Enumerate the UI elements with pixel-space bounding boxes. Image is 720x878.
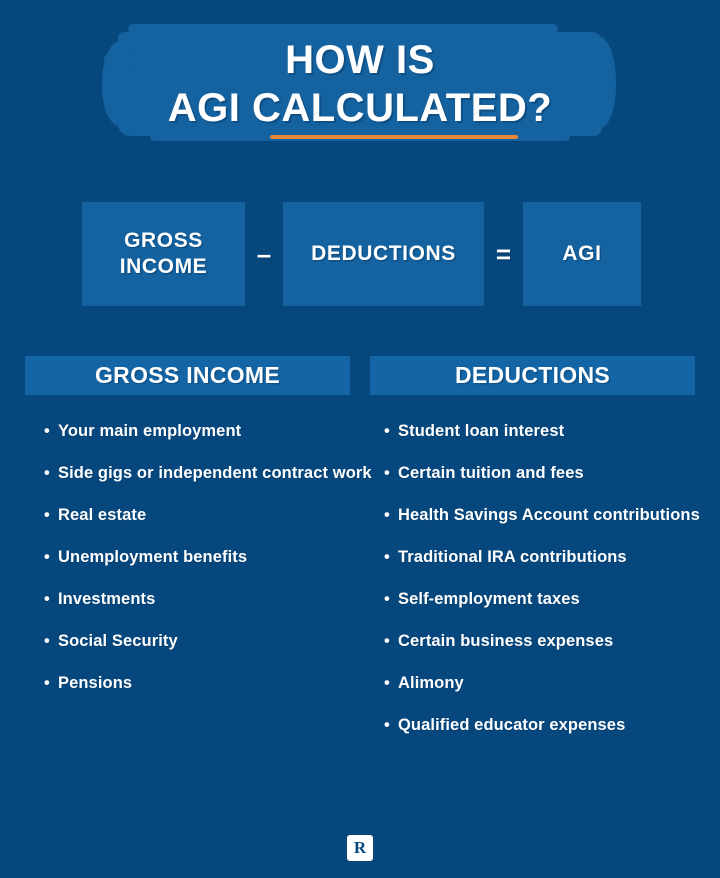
formula-gross-income-line-2: INCOME xyxy=(120,255,208,278)
bullet-icon: • xyxy=(44,452,58,494)
bullet-icon: • xyxy=(44,536,58,578)
formula-minus-operator: – xyxy=(245,202,283,306)
list-item: • Qualified educator expenses xyxy=(384,704,714,746)
title-block: HOW IS AGI CALCULATED? xyxy=(0,0,720,175)
page-title: HOW IS AGI CALCULATED? xyxy=(0,36,720,132)
formula-row: GROSS INCOME – DEDUCTIONS = AGI xyxy=(0,202,720,306)
list-item: • Health Savings Account contributions xyxy=(384,494,714,536)
list-item-label: Social Security xyxy=(58,620,374,662)
brush-streak-top xyxy=(128,24,558,34)
list-item: • Pensions xyxy=(44,662,374,704)
formula-equals-operator: = xyxy=(484,202,523,306)
page-title-line-1: HOW IS xyxy=(0,36,720,84)
bullet-icon: • xyxy=(384,536,398,578)
list-item: • Alimony xyxy=(384,662,714,704)
list-item: • Side gigs or independent contract work xyxy=(44,452,374,494)
list-item-label: Unemployment benefits xyxy=(58,536,374,578)
bullet-icon: • xyxy=(44,494,58,536)
bullet-icon: • xyxy=(384,452,398,494)
list-item-label: Self-employment taxes xyxy=(398,578,714,620)
list-item-label: Traditional IRA contributions xyxy=(398,536,714,578)
title-accent-underline xyxy=(270,135,518,139)
bullet-icon: • xyxy=(384,620,398,662)
formula-gross-income-line-1: GROSS xyxy=(124,229,203,252)
list-item: • Student loan interest xyxy=(384,410,714,452)
list-item-label: Side gigs or independent contract work xyxy=(58,452,374,494)
list-item: • Social Security xyxy=(44,620,374,662)
list-item: • Real estate xyxy=(44,494,374,536)
list-item: • Certain business expenses xyxy=(384,620,714,662)
list-item: • Investments xyxy=(44,578,374,620)
bullet-icon: • xyxy=(384,704,398,746)
list-item-label: Alimony xyxy=(398,662,714,704)
list-item: • Your main employment xyxy=(44,410,374,452)
bullet-icon: • xyxy=(44,662,58,704)
list-item-label: Health Savings Account contributions xyxy=(398,494,714,536)
bullet-icon: • xyxy=(384,578,398,620)
page-title-line-2: AGI CALCULATED? xyxy=(0,84,720,132)
list-item-label: Certain business expenses xyxy=(398,620,714,662)
bullet-icon: • xyxy=(44,410,58,452)
list-item-label: Student loan interest xyxy=(398,410,714,452)
formula-box-deductions: DEDUCTIONS xyxy=(283,202,484,306)
formula-box-agi: AGI xyxy=(523,202,641,306)
column-header-gross-income: GROSS INCOME xyxy=(25,356,350,395)
list-item: • Unemployment benefits xyxy=(44,536,374,578)
list-item-label: Investments xyxy=(58,578,374,620)
list-item: • Traditional IRA contributions xyxy=(384,536,714,578)
formula-box-gross-income: GROSS INCOME xyxy=(82,202,245,306)
list-item-label: Pensions xyxy=(58,662,374,704)
bullet-icon: • xyxy=(384,662,398,704)
bullet-icon: • xyxy=(44,578,58,620)
list-item-label: Your main employment xyxy=(58,410,374,452)
bullet-icon: • xyxy=(384,410,398,452)
bullet-icon: • xyxy=(44,620,58,662)
list-item-label: Certain tuition and fees xyxy=(398,452,714,494)
gross-income-list: • Your main employment • Side gigs or in… xyxy=(44,410,374,704)
ramsey-logo-icon: R xyxy=(347,835,373,861)
list-item-label: Qualified educator expenses xyxy=(398,704,714,746)
bullet-icon: • xyxy=(384,494,398,536)
list-item-label: Real estate xyxy=(58,494,374,536)
list-item: • Self-employment taxes xyxy=(384,578,714,620)
column-header-deductions: DEDUCTIONS xyxy=(370,356,695,395)
deductions-list: • Student loan interest • Certain tuitio… xyxy=(384,410,714,746)
list-item: • Certain tuition and fees xyxy=(384,452,714,494)
